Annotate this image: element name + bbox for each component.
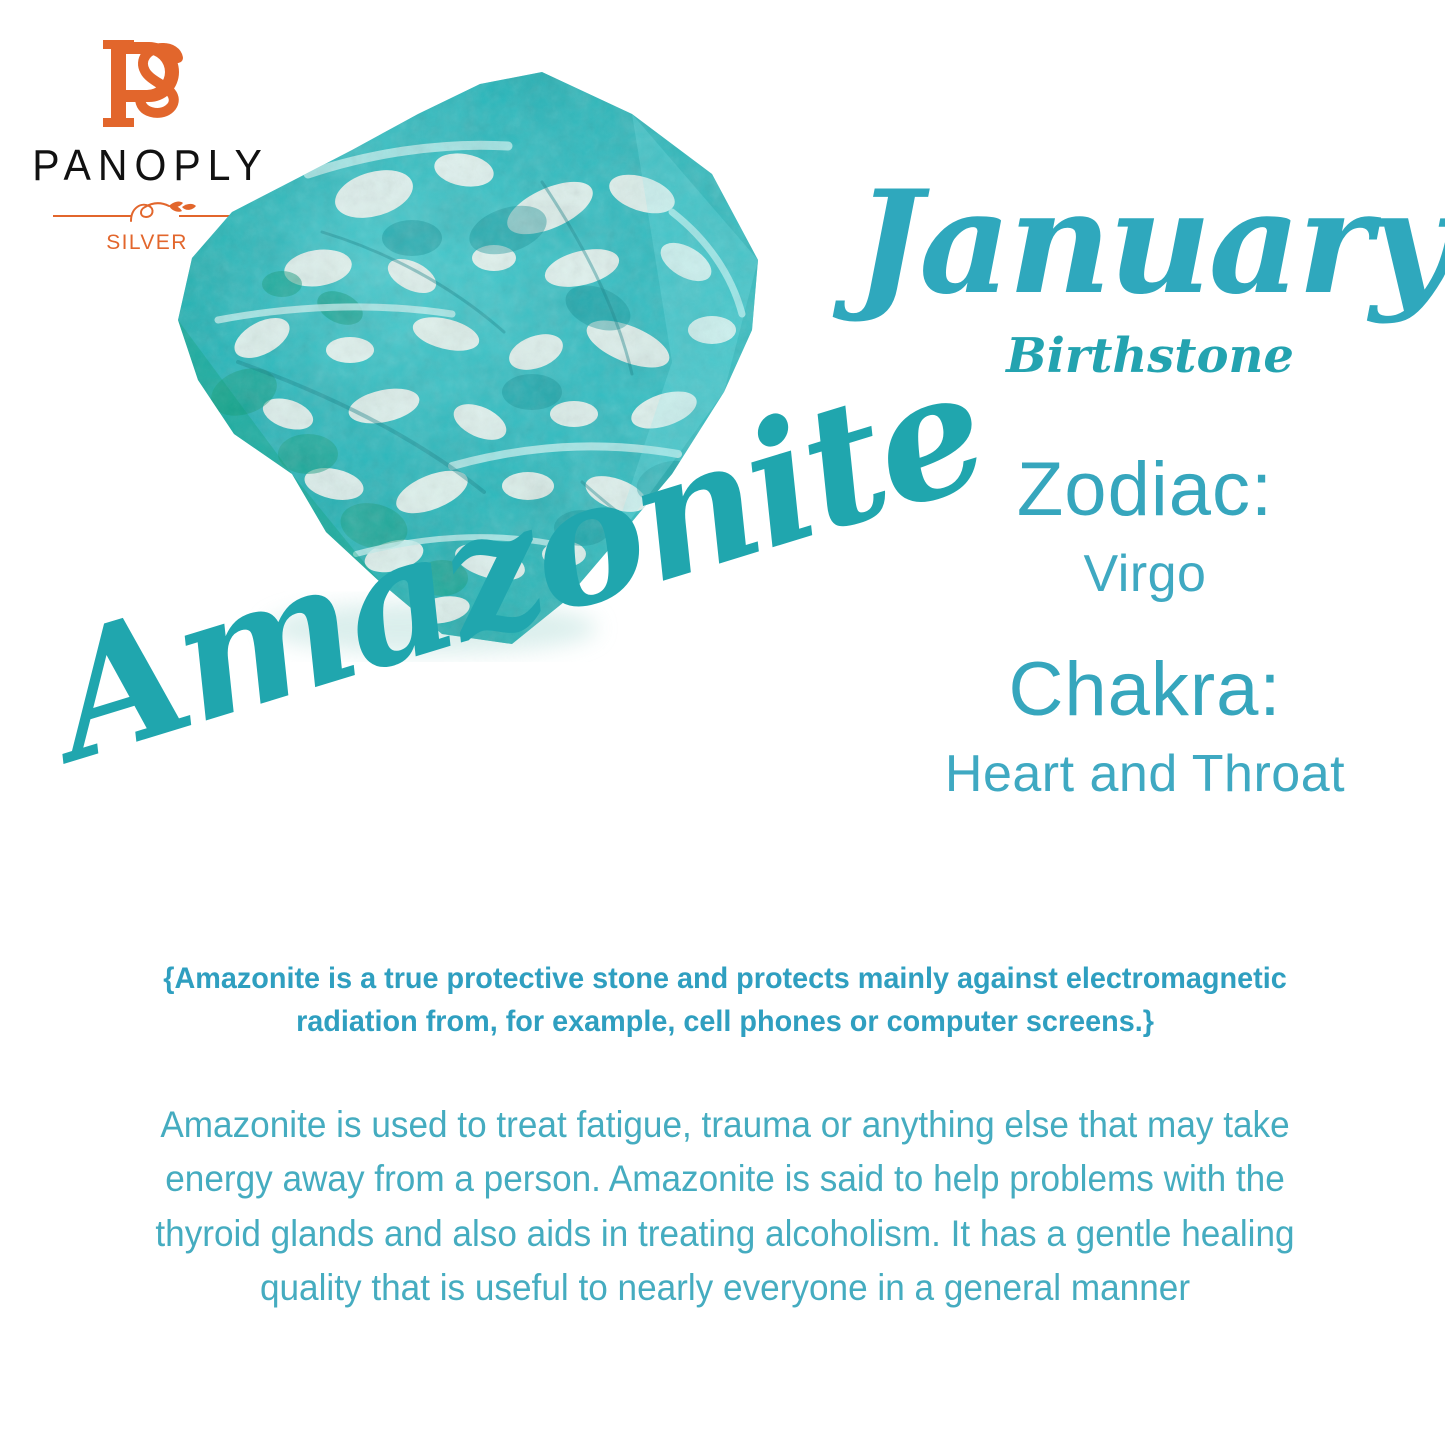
highlight-paragraph: {Amazonite is a true protective stone an…: [115, 958, 1334, 1043]
description-paragraph: Amazonite is used to treat fatigue, trau…: [122, 1098, 1329, 1316]
birthstone-info-card: PANOPLY SILVER: [0, 0, 1445, 1445]
zodiac-value: Virgo: [845, 548, 1445, 600]
month-title: January: [855, 172, 1445, 314]
chakra-value: Heart and Throat: [845, 748, 1445, 800]
chakra-label: Chakra:: [845, 652, 1445, 728]
